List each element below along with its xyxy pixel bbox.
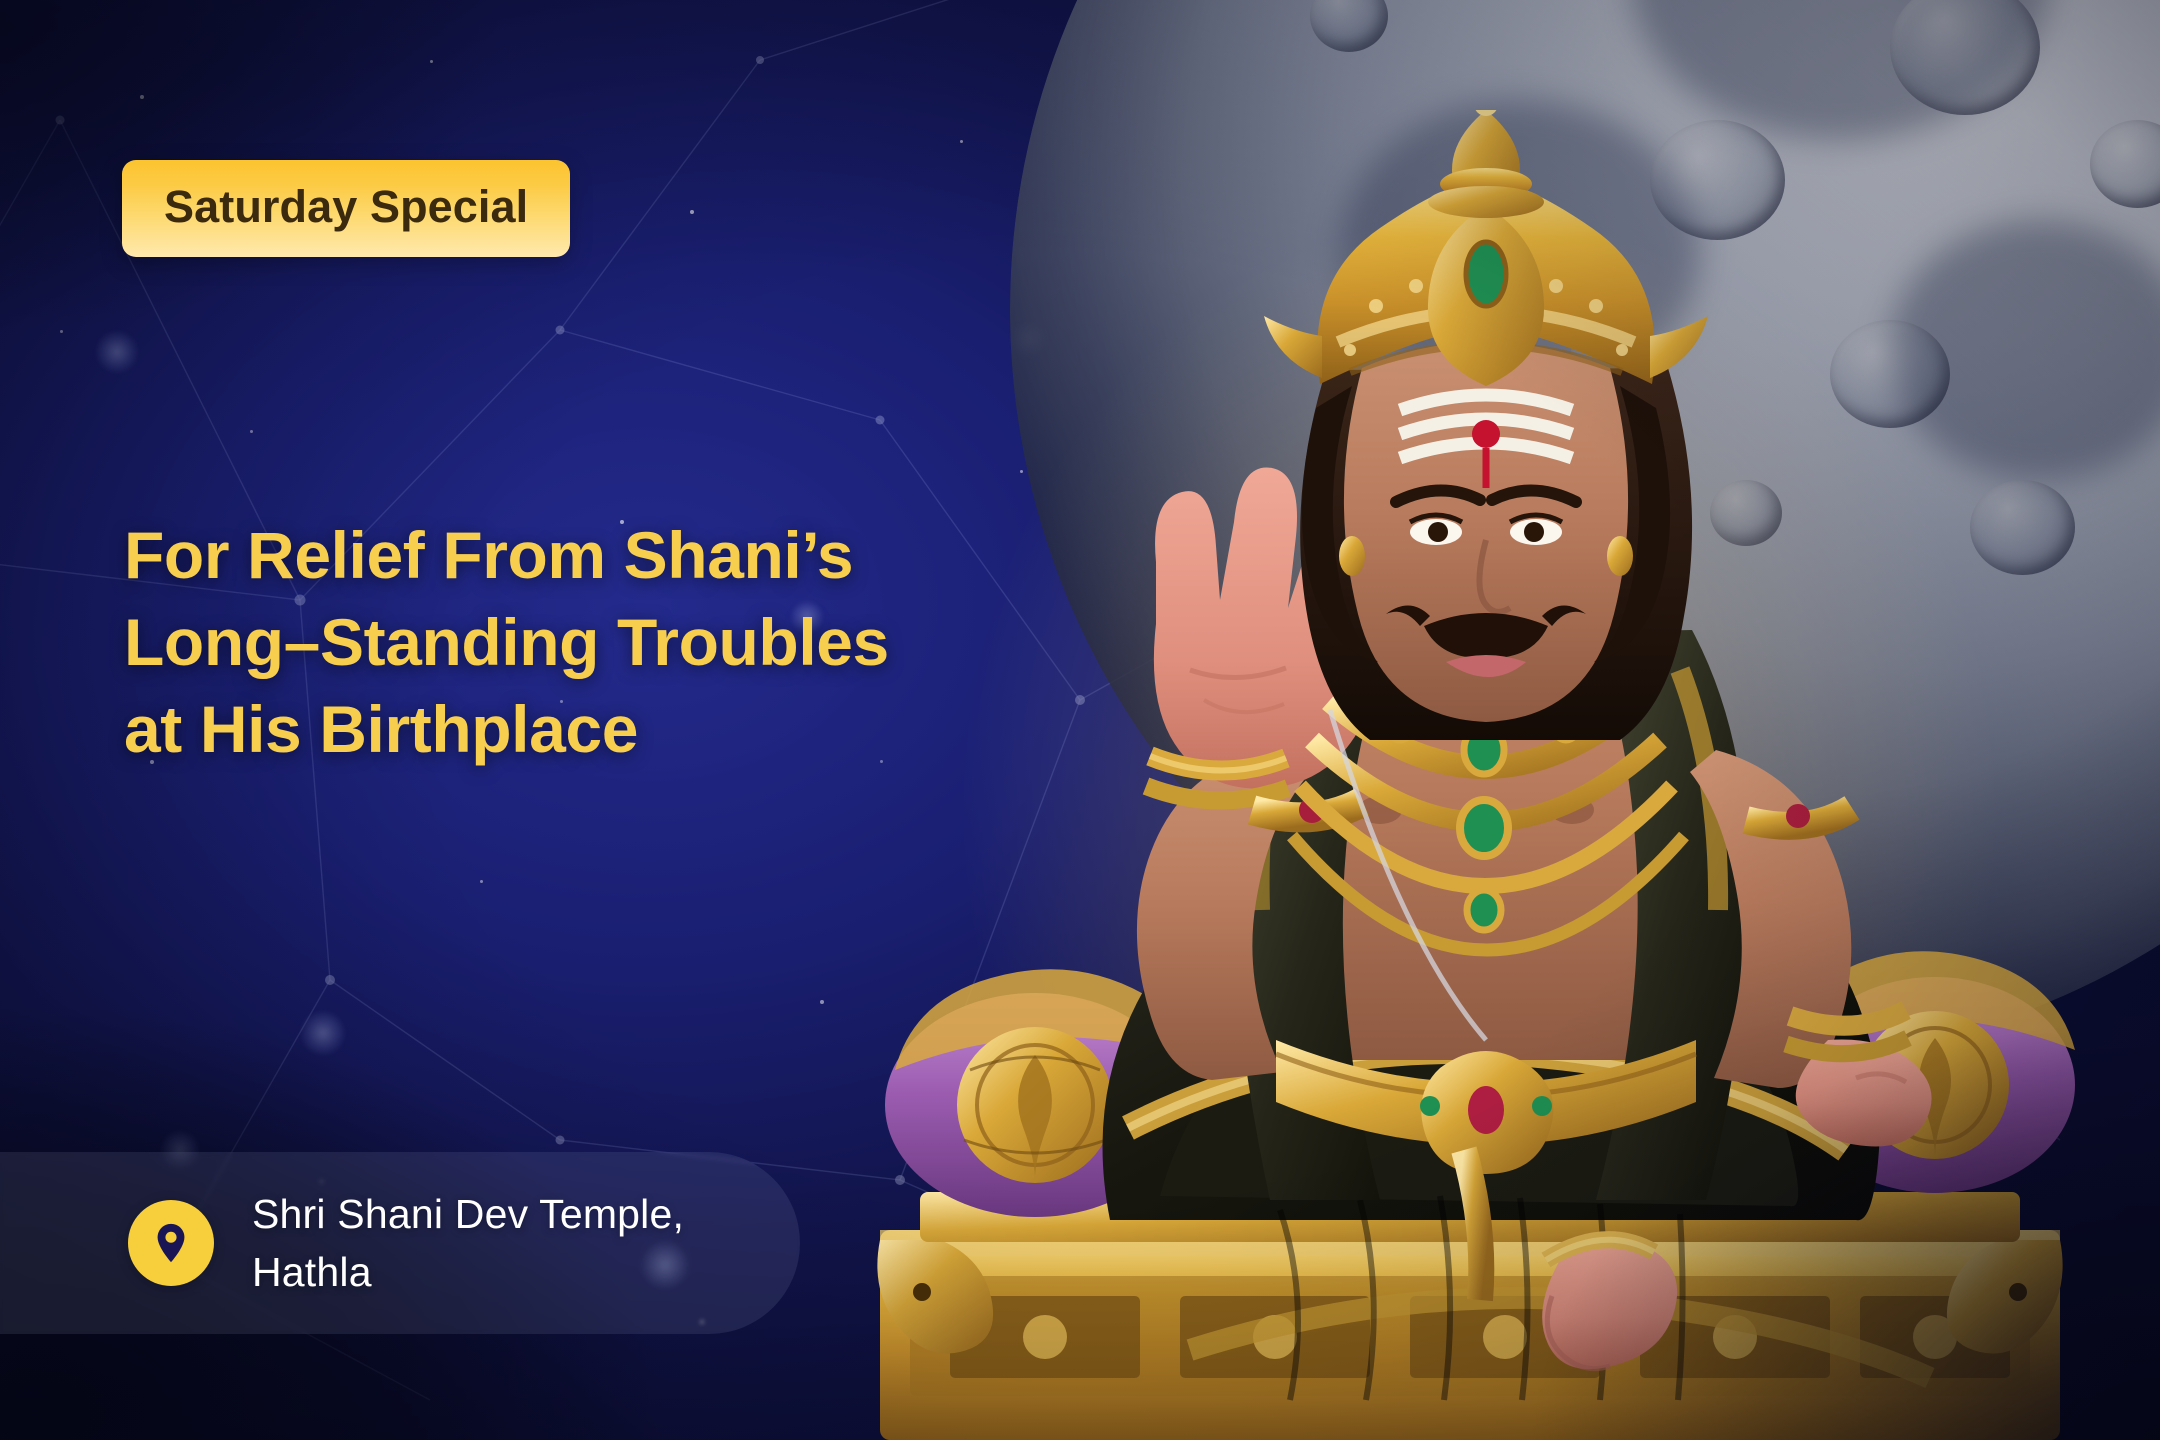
- page-title: For Relief From Shani’s Long–Standing Tr…: [124, 512, 1124, 773]
- badge-label: Saturday Special: [164, 184, 528, 229]
- location-text: Shri Shani Dev Temple, Hathla: [252, 1190, 684, 1297]
- location-pill[interactable]: Shri Shani Dev Temple, Hathla: [0, 1152, 800, 1334]
- location-line-2: Hathla: [252, 1248, 684, 1296]
- lord-shani-illustration: [860, 110, 2120, 1440]
- headline-line-3: at His Birthplace: [124, 686, 1124, 773]
- headline-line-1: For Relief From Shani’s: [124, 512, 1124, 599]
- promotional-banner: Saturday Special For Relief From Shani’s…: [0, 0, 2160, 1440]
- head: [1300, 342, 1692, 740]
- headline-line-2: Long–Standing Troubles: [124, 599, 1124, 686]
- location-line-1: Shri Shani Dev Temple,: [252, 1190, 684, 1238]
- saturday-special-badge[interactable]: Saturday Special: [122, 160, 570, 257]
- map-pin-icon: [128, 1200, 214, 1286]
